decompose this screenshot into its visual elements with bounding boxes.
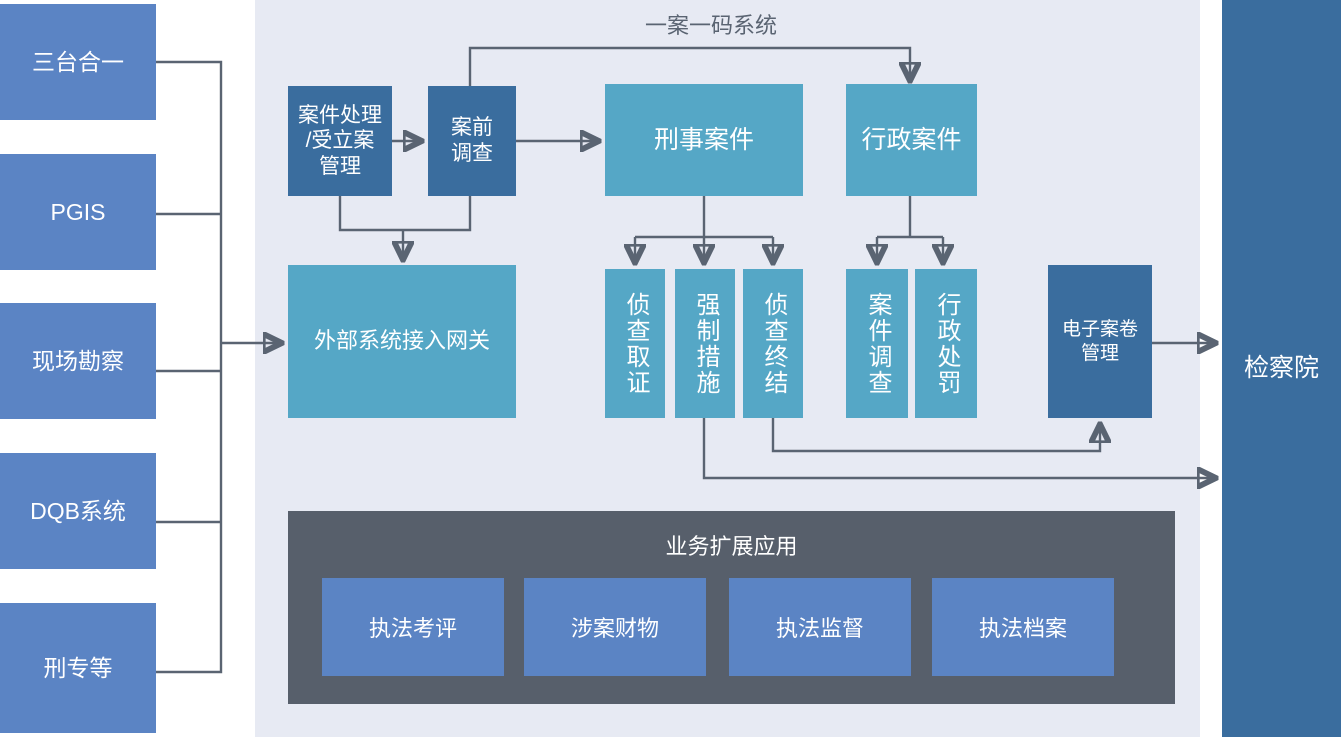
- criminal-step-label: 侦查取证: [623, 292, 647, 396]
- extension-app-box[interactable]: 执法监督: [729, 578, 911, 676]
- external-system-box[interactable]: 刑专等: [0, 603, 156, 733]
- external-system-box[interactable]: 现场勘察: [0, 303, 156, 419]
- business-extension-title: 业务扩展应用: [288, 529, 1175, 561]
- extension-app-label: 执法档案: [979, 611, 1067, 643]
- extension-app-box[interactable]: 涉案财物: [524, 578, 706, 676]
- pre-case-investigation-box[interactable]: 案前 调查: [428, 86, 516, 196]
- external-system-label: 三台合一: [32, 48, 124, 76]
- extension-app-label: 执法监督: [776, 611, 864, 643]
- procuratorate-label: 检察院: [1244, 353, 1319, 384]
- extension-app-label: 执法考评: [369, 611, 457, 643]
- external-system-box[interactable]: PGIS: [0, 154, 156, 270]
- criminal-case-box[interactable]: 刑事案件: [605, 84, 803, 196]
- external-system-box[interactable]: 三台合一: [0, 4, 156, 120]
- electronic-archive-box[interactable]: 电子案卷 管理: [1048, 265, 1152, 418]
- extension-app-box[interactable]: 执法档案: [932, 578, 1114, 676]
- criminal-step-label: 侦查终结: [761, 292, 785, 396]
- criminal-step-box[interactable]: 侦查终结: [743, 269, 803, 418]
- extension-app-box[interactable]: 执法考评: [322, 578, 504, 676]
- case-intake-box[interactable]: 案件处理 /受立案 管理: [288, 86, 392, 196]
- criminal-step-box[interactable]: 强制措施: [675, 269, 735, 418]
- extension-app-label: 涉案财物: [571, 611, 659, 643]
- system-title: 一案一码系统: [645, 8, 777, 40]
- case-intake-label: 案件处理 /受立案 管理: [298, 103, 382, 180]
- electronic-archive-label: 电子案卷 管理: [1062, 318, 1138, 364]
- administrative-step-label: 行政处罚: [934, 292, 958, 396]
- external-system-box[interactable]: DQB系统: [0, 453, 156, 569]
- criminal-step-label: 强制措施: [693, 292, 717, 396]
- external-system-label: DQB系统: [30, 497, 126, 525]
- pre-case-investigation-label: 案前 调查: [451, 115, 493, 166]
- diagram-canvas: 三台合一 PGIS 现场勘察 DQB系统 刑专等 一案一码系统 案件处理 /受立…: [0, 0, 1341, 737]
- administrative-step-box[interactable]: 案件调查: [846, 269, 908, 418]
- external-system-label: 现场勘察: [32, 347, 124, 375]
- administrative-step-label: 案件调查: [865, 292, 889, 396]
- external-gateway-box[interactable]: 外部系统接入网关: [288, 265, 516, 418]
- criminal-case-label: 刑事案件: [654, 125, 754, 156]
- external-gateway-label: 外部系统接入网关: [314, 328, 490, 355]
- external-system-label: PGIS: [51, 198, 106, 226]
- administrative-step-box[interactable]: 行政处罚: [915, 269, 977, 418]
- administrative-case-box[interactable]: 行政案件: [846, 84, 977, 196]
- administrative-case-label: 行政案件: [861, 125, 961, 156]
- external-system-label: 刑专等: [44, 654, 113, 682]
- procuratorate-box[interactable]: 检察院: [1222, 0, 1341, 737]
- criminal-step-box[interactable]: 侦查取证: [605, 269, 665, 418]
